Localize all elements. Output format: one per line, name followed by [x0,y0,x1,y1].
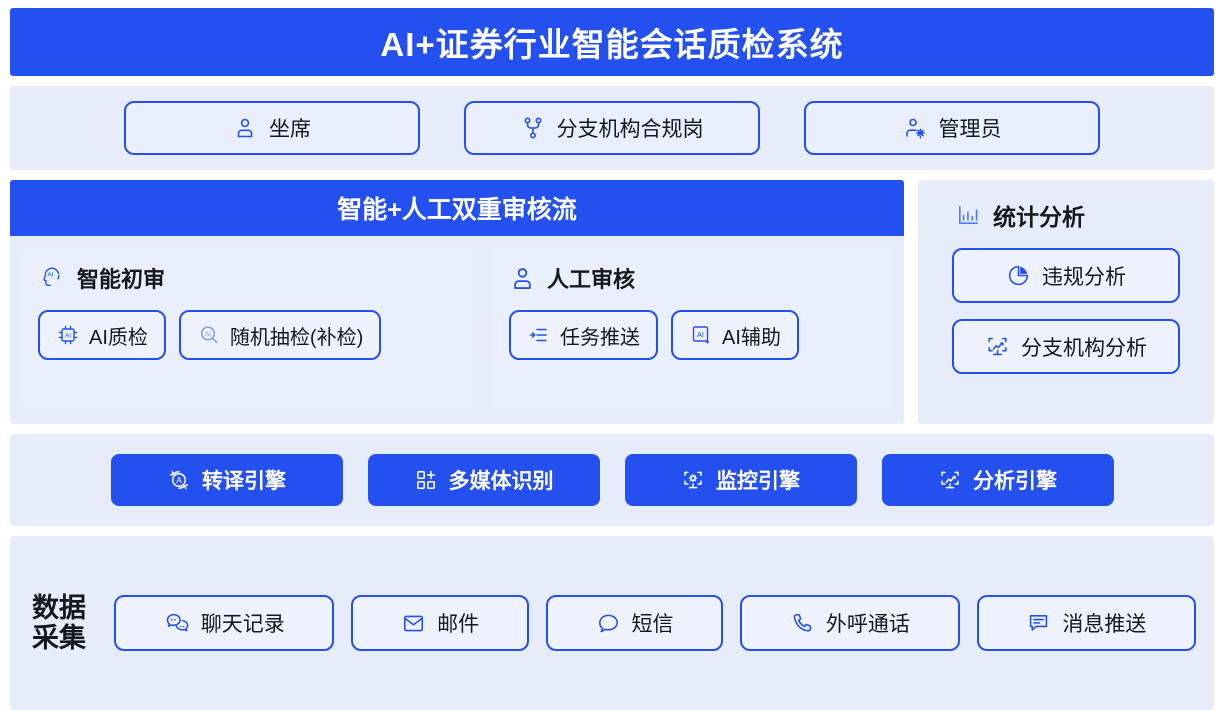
user-icon [509,265,536,292]
review-flow-banner: 智能+人工双重审核流 [10,180,904,236]
review-flow-body: AI 智能初审 AI [10,236,904,424]
data-collection-title-line1: 数据 [32,593,98,623]
channel-label-email: 邮件 [437,608,479,638]
channel-button-outbound-call[interactable]: 外呼通话 [740,595,959,651]
pie-chart-icon [1006,263,1031,288]
card-header-human: 人工审核 [509,262,876,294]
engine-label-translation: 转译引擎 [202,465,286,495]
role-button-admin[interactable]: 管理员 [804,101,1100,155]
sms-bubble-icon [596,611,621,636]
chip-label-ai-quality-inspection: AI质检 [89,321,148,350]
svg-text:A: A [176,475,182,485]
channel-label-message-push: 消息推送 [1062,608,1146,638]
phone-icon [790,611,815,636]
message-push-icon [1026,611,1051,636]
user-gear-icon [903,116,927,140]
header-banner: AI+证券行业智能会话质检系统 [10,8,1214,76]
review-flow-section: 智能+人工双重审核流 AI 智能初审 [10,180,904,424]
role-button-agent[interactable]: 坐席 [124,101,420,155]
monitor-trend-icon [985,334,1010,359]
data-collection-panel: 数据 采集 聊天记录 [10,536,1214,710]
engine-button-multimedia[interactable]: 多媒体识别 [368,454,600,506]
card-header-ai: AI 智能初审 [38,262,461,294]
stat-button-violation-analysis[interactable]: 违规分析 [952,248,1180,303]
chip-random-sampling[interactable]: AI 随机抽检(补检) [179,310,381,360]
svg-text:AI: AI [65,332,71,339]
branch-icon [521,116,545,140]
svg-text:AI: AI [47,272,53,279]
card-title-ai: 智能初审 [77,262,165,294]
app-root: AI+证券行业智能会话质检系统 坐席 分 [0,0,1224,710]
stat-button-branch-analysis[interactable]: 分支机构分析 [952,319,1180,374]
engine-button-monitoring[interactable]: 监控引擎 [625,454,857,506]
role-label-branch-compliance: 分支机构合规岗 [557,113,704,143]
translate-icon: A [167,468,191,492]
channel-label-chat-records: 聊天记录 [201,608,285,638]
chip-row-ai: AI AI质检 AI [38,310,461,360]
monitor-trend-icon [938,468,962,492]
statistics-title: 统计分析 [993,198,1085,232]
ai-head-icon: AI [38,264,66,292]
role-label-admin: 管理员 [939,113,1002,143]
engine-button-translation[interactable]: A 转译引擎 [111,454,343,506]
chip-ai-assist[interactable]: AI AI辅助 [671,310,799,360]
mail-icon [401,611,426,636]
svg-text:AI: AI [697,330,704,339]
channel-label-sms: 短信 [632,608,674,638]
chip-label-ai-assist: AI辅助 [722,321,781,350]
data-collection-channels: 聊天记录 邮件 短信 [114,595,1196,651]
svg-text:AI: AI [205,332,211,338]
ai-search-icon: AI [197,323,221,347]
user-icon [233,116,257,140]
card-title-human: 人工审核 [547,262,635,294]
stat-label-violation-analysis: 违规分析 [1042,261,1126,291]
channel-button-sms[interactable]: 短信 [546,595,723,651]
statistics-header: 统计分析 [934,198,1198,232]
engine-label-monitoring: 监控引擎 [716,465,800,495]
statistics-panel: 统计分析 违规分析 [918,180,1214,424]
card-human-review: 人工审核 任务推送 [493,246,892,410]
bar-chart-icon [956,202,982,228]
channel-button-chat-records[interactable]: 聊天记录 [114,595,334,651]
monitor-gear-icon [681,468,705,492]
roles-panel: 坐席 分支机构合规岗 [10,86,1214,170]
channel-button-message-push[interactable]: 消息推送 [977,595,1196,651]
chip-task-push[interactable]: 任务推送 [509,310,658,360]
channel-label-outbound-call: 外呼通话 [826,608,910,638]
ai-assist-icon: AI [689,323,713,347]
chip-ai-quality-inspection[interactable]: AI AI质检 [38,310,166,360]
data-collection-title: 数据 采集 [32,593,98,653]
middle-row: 智能+人工双重审核流 AI 智能初审 [10,180,1214,424]
chip-row-human: 任务推送 AI AI辅助 [509,310,876,360]
stat-label-branch-analysis: 分支机构分析 [1021,332,1147,362]
engines-panel: A 转译引擎 多媒体识别 [10,434,1214,526]
engine-label-multimedia: 多媒体识别 [449,465,554,495]
card-ai-preliminary-review: AI 智能初审 AI [22,246,477,410]
data-collection-title-line2: 采集 [32,623,98,653]
ai-chip-icon: AI [56,323,80,347]
role-button-branch-compliance[interactable]: 分支机构合规岗 [464,101,760,155]
engine-label-analysis: 分析引擎 [973,465,1057,495]
chip-label-task-push: 任务推送 [560,321,640,350]
chip-label-random-sampling: 随机抽检(补检) [230,321,363,350]
role-label-agent: 坐席 [269,113,311,143]
task-push-icon [527,323,551,347]
channel-button-email[interactable]: 邮件 [351,595,528,651]
page-title: AI+证券行业智能会话质检系统 [380,18,843,66]
chat-bubbles-icon [164,610,190,636]
engine-button-analysis[interactable]: 分析引擎 [882,454,1114,506]
review-flow-title: 智能+人工双重审核流 [337,190,577,226]
grid-plus-icon [414,468,438,492]
